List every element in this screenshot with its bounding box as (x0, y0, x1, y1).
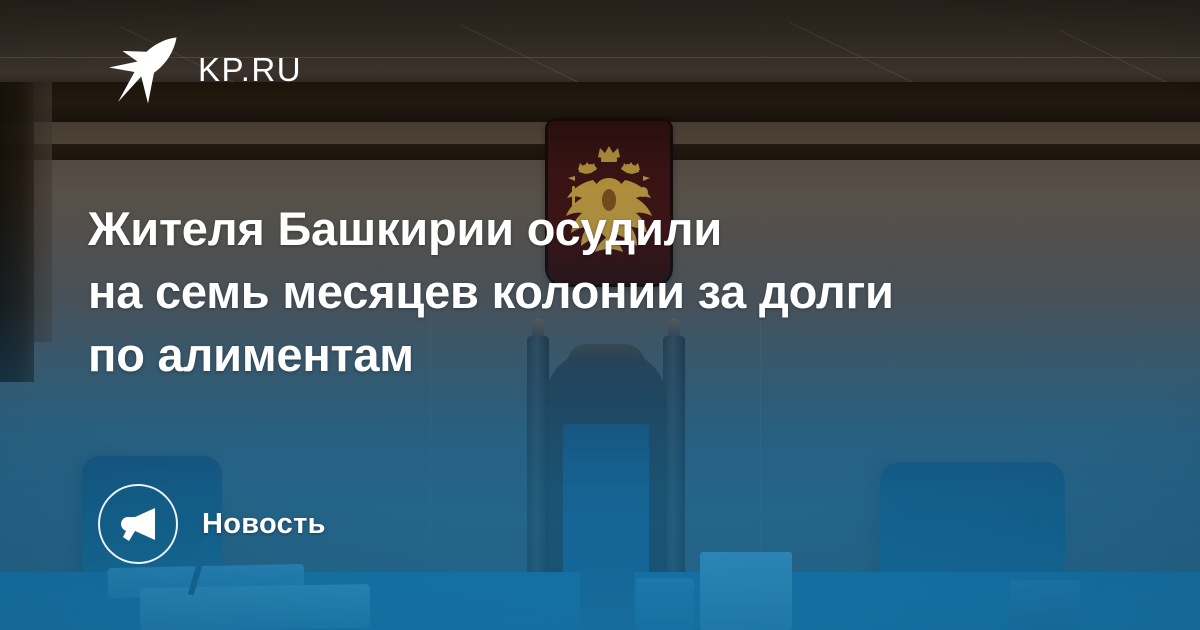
headline-line: Жителя Башкирии осудили (88, 197, 1118, 260)
headline-line: по алиментам (88, 323, 1118, 386)
megaphone-icon (117, 506, 159, 542)
news-share-card: KP.RU Жителя Башкирии осудили на семь ме… (0, 0, 1200, 630)
page-title: Жителя Башкирии осудили на семь месяцев … (88, 197, 1118, 386)
status-badge-label: Новость (202, 508, 326, 541)
status-badge[interactable]: Новость (98, 484, 326, 564)
card-content: KP.RU Жителя Башкирии осудили на семь ме… (0, 0, 1200, 630)
brand-name: KP.RU (198, 53, 302, 86)
headline-line: на семь месяцев колонии за долги (88, 260, 1118, 323)
swallow-bird-icon (104, 33, 180, 105)
brand-logo-block[interactable]: KP.RU (104, 33, 302, 105)
megaphone-icon-circle (98, 484, 178, 564)
